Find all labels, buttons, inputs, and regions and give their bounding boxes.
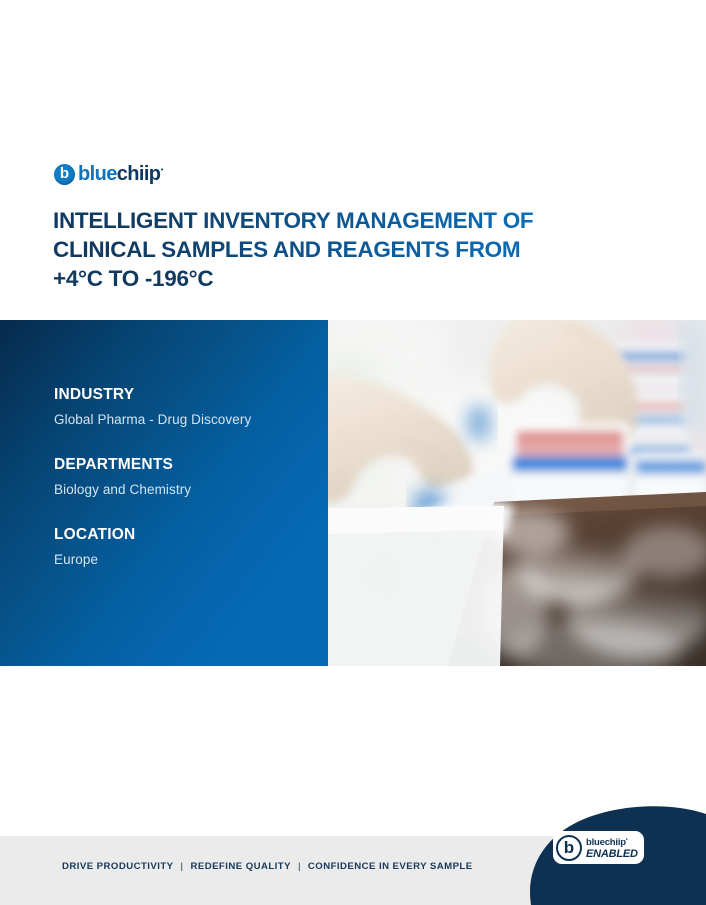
bluechiip-enabled-badge[interactable]: bluechiip• ENABLED <box>553 831 644 864</box>
bluechiip-circle-b-icon <box>54 164 75 185</box>
info-value-industry: Global Pharma - Drug Discovery <box>54 411 308 429</box>
info-label-industry: INDUSTRY <box>54 385 308 405</box>
case-study-page: bluechiip• INTELLIGENT INVENTORY MANAGEM… <box>0 0 706 905</box>
wordmark-blue: blue <box>78 163 117 185</box>
headline-line-2: CLINICAL SAMPLES AND REAGENTS FROM <box>53 235 628 264</box>
bluechiip-wordmark: bluechiip• <box>78 164 163 184</box>
info-group-location: LOCATION Europe <box>54 525 308 569</box>
tagline-separator-1: | <box>174 861 191 872</box>
hero-band: INDUSTRY Global Pharma - Drug Discovery … <box>0 320 706 666</box>
info-group-industry: INDUSTRY Global Pharma - Drug Discovery <box>54 385 308 429</box>
wordmark-chiip: chiip <box>117 163 161 185</box>
tagline-item-1: DRIVE PRODUCTIVITY <box>62 861 174 872</box>
info-list: INDUSTRY Global Pharma - Drug Discovery … <box>54 385 308 569</box>
tagline-item-3: CONFIDENCE IN EVERY SAMPLE <box>308 861 473 872</box>
badge-enabled-label: ENABLED <box>586 849 638 860</box>
badge-brand-label: bluechiip <box>586 837 626 848</box>
info-group-departments: DEPARTMENTS Biology and Chemistry <box>54 455 308 499</box>
footer-tagline: DRIVE PRODUCTIVITY|REDEFINE QUALITY|CONF… <box>62 860 473 874</box>
badge-text: bluechiip• ENABLED <box>586 835 638 860</box>
tagline-separator-2: | <box>291 861 308 872</box>
bluechiip-circle-b-icon <box>556 835 582 861</box>
headline-line-1: INTELLIGENT INVENTORY MANAGEMENT OF <box>53 206 628 235</box>
page-title: INTELLIGENT INVENTORY MANAGEMENT OF CLIN… <box>53 206 628 293</box>
badge-brand-name: bluechiip• <box>586 835 638 848</box>
info-value-location: Europe <box>54 551 308 569</box>
tagline-item-2: REDEFINE QUALITY <box>190 861 290 872</box>
info-value-departments: Biology and Chemistry <box>54 481 308 499</box>
trademark-mark: • <box>161 167 163 174</box>
hero-photo <box>328 320 706 666</box>
bluechiip-logo[interactable]: bluechiip• <box>54 163 163 185</box>
info-panel: INDUSTRY Global Pharma - Drug Discovery … <box>0 320 328 666</box>
info-label-location: LOCATION <box>54 525 308 545</box>
badge-trademark: • <box>626 837 628 843</box>
headline-line-3: +4°C TO -196°C <box>53 264 628 293</box>
info-label-departments: DEPARTMENTS <box>54 455 308 475</box>
